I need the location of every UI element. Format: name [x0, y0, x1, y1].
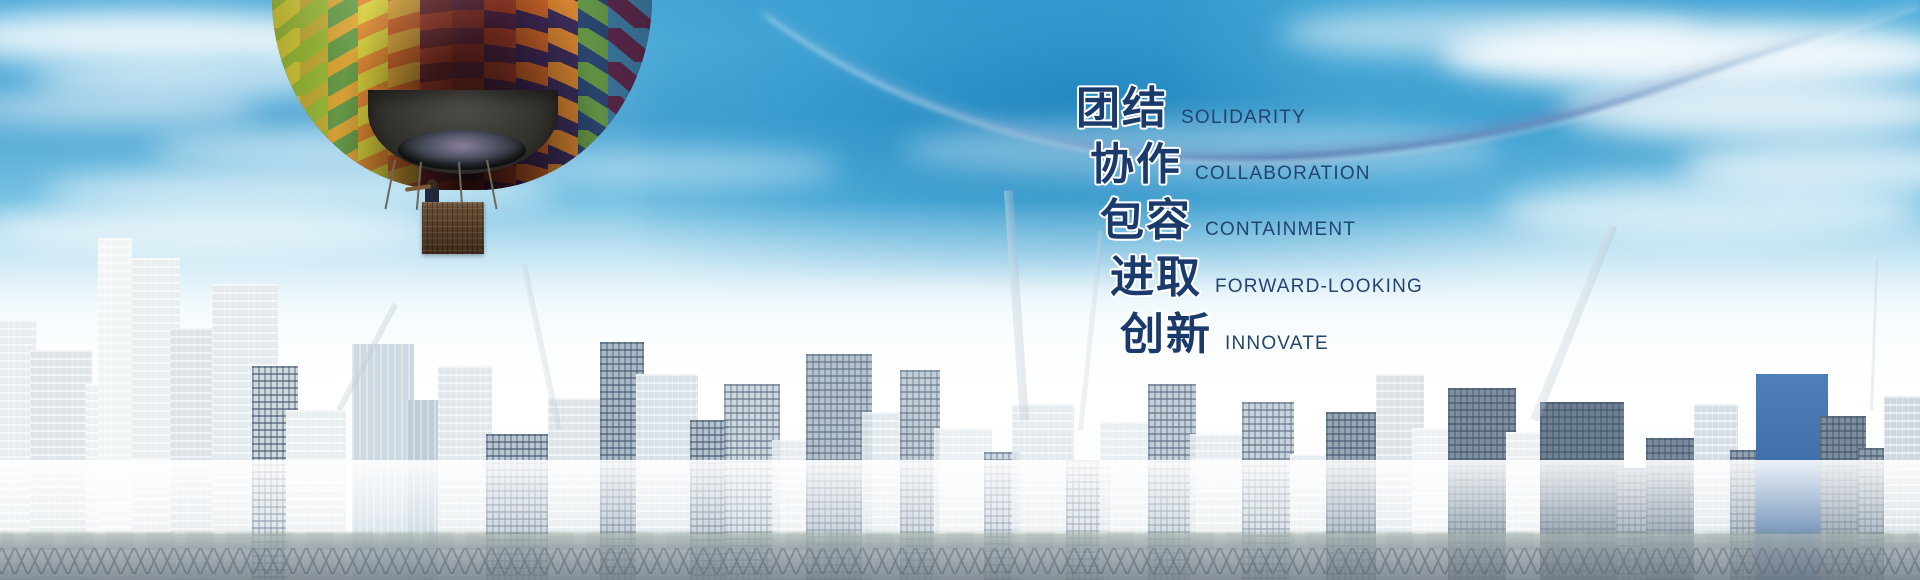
slogan-en-text: SOLIDARITY [1181, 107, 1306, 129]
slogan-cn-text: 协作 [1090, 128, 1182, 192]
slogan-line-containment: 包容 CONTAINMENT [1100, 184, 1356, 248]
slogan-line-solidarity: 团结 SOLIDARITY [1076, 72, 1306, 136]
slogan-en-text: COLLABORATION [1195, 163, 1371, 185]
slogan-en-text: FORWARD-LOOKING [1215, 276, 1423, 298]
slogan-stack: 团结 SOLIDARITY 协作 COLLABORATION 包容 CONTAI… [0, 0, 1920, 580]
slogan-line-forward-looking: 进取 FORWARD-LOOKING [1110, 241, 1423, 305]
corporate-culture-banner: 团结 SOLIDARITY 协作 COLLABORATION 包容 CONTAI… [0, 0, 1920, 580]
slogan-line-collaboration: 协作 COLLABORATION [1090, 128, 1371, 192]
slogan-en-text: CONTAINMENT [1205, 219, 1356, 241]
slogan-cn-text: 进取 [1110, 241, 1202, 305]
slogan-cn-text: 团结 [1076, 72, 1168, 136]
slogan-line-innovate: 创新 INNOVATE [1120, 298, 1329, 362]
slogan-cn-text: 包容 [1100, 184, 1192, 248]
slogan-en-text: INNOVATE [1225, 333, 1329, 355]
slogan-cn-text: 创新 [1120, 298, 1212, 362]
